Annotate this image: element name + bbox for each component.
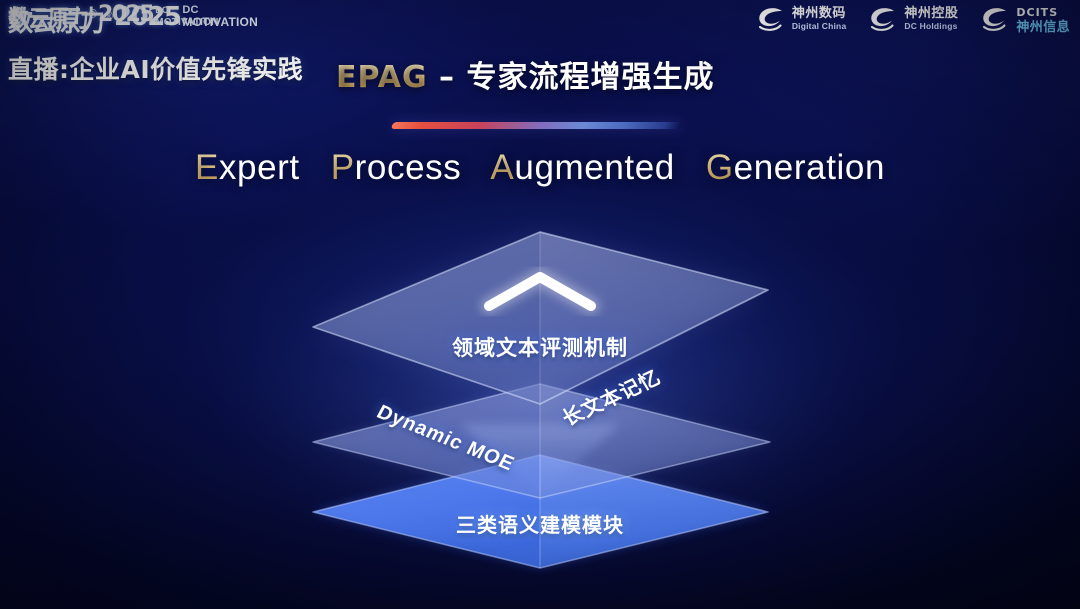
brand-watermark-bottom-right: 数云原力® 2025 DC MOTIVATION (8, 2, 1068, 605)
watermark-mark: 数云原力® (8, 2, 97, 32)
watermark-subtitle: DC MOTIVATION (155, 5, 218, 28)
watermark-year: 2025 (98, 2, 153, 27)
watermark-sub-line1: DC (155, 5, 218, 16)
watermark-sub-line2: MOTIVATION (155, 17, 218, 28)
slide-canvas: 领域文本评测机制 Dynamic MOE 长文本记忆 三类语义建模模块 数云原力… (0, 0, 1080, 609)
registered-mark: ® (88, 9, 97, 21)
